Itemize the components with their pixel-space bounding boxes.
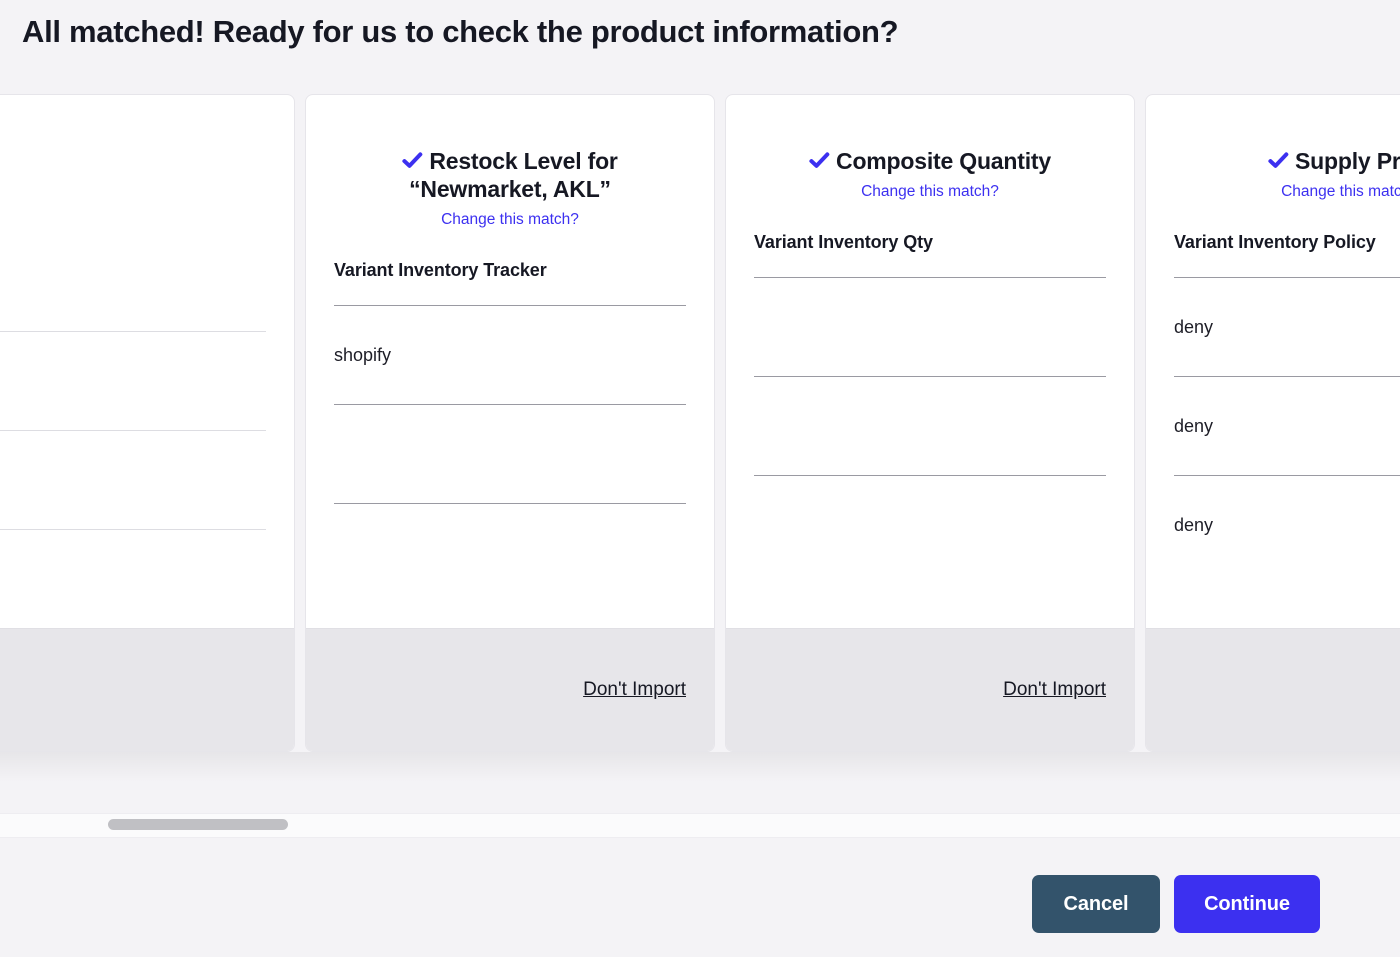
preview-value-row	[754, 277, 1106, 376]
match-card-body: Composite QuantityChange this match?Vari…	[726, 95, 1134, 628]
preview-value-row: shopify	[334, 305, 686, 404]
change-match-link[interactable]: Change this match?	[441, 211, 579, 229]
match-card: Supply PriceChange this match?Variant In…	[1145, 94, 1400, 752]
preview-value-row	[754, 475, 1106, 574]
change-match-link[interactable]: Change this match?	[1281, 183, 1400, 201]
preview-value-list: denydenydeny	[1174, 277, 1400, 574]
page-title: All matched! Ready for us to check the p…	[22, 14, 898, 50]
preview-value-list: shopify	[334, 305, 686, 602]
horizontal-scrollbar-thumb[interactable]	[108, 819, 288, 830]
check-icon	[1268, 150, 1289, 171]
preview-value-row	[334, 503, 686, 602]
match-card-body: Supply PriceChange this match?Variant In…	[1146, 95, 1400, 628]
match-card: Restock Level for “Newmarket, AKL”Change…	[305, 94, 715, 752]
preview-value-row: deny	[1174, 475, 1400, 574]
cancel-button[interactable]: Cancel	[1032, 875, 1160, 933]
preview-value-list	[754, 277, 1106, 574]
preview-value-list	[0, 331, 266, 628]
match-cards-carousel[interactable]: ImportRestock Level for “Newmarket, AKL”…	[0, 94, 1400, 759]
match-card-title-text: Restock Level for “Newmarket, AKL”	[409, 148, 618, 202]
match-card-footer: Don't Import	[1146, 628, 1400, 751]
preview-value-row: deny	[1174, 277, 1400, 376]
continue-button[interactable]: Continue	[1174, 875, 1320, 933]
import-matching-screen: All matched! Ready for us to check the p…	[0, 0, 1400, 957]
preview-value-row: deny	[1174, 376, 1400, 475]
match-card-footer: Don't Import	[726, 628, 1134, 751]
match-card: Composite QuantityChange this match?Vari…	[725, 94, 1135, 752]
header-spacer	[0, 147, 266, 307]
match-card-title: Restock Level for “Newmarket, AKL”	[334, 147, 686, 203]
preview-value-row	[0, 529, 266, 628]
match-card-body	[0, 95, 294, 628]
check-icon	[402, 150, 423, 171]
match-card-partial: Import	[0, 94, 295, 752]
match-card-title-text: Supply Price	[1295, 148, 1400, 174]
match-card-footer: Don't Import	[306, 628, 714, 751]
source-column-name: Variant Inventory Tracker	[334, 260, 686, 281]
action-bar: Cancel Continue	[1032, 875, 1320, 933]
check-icon	[809, 150, 830, 171]
preview-value-row	[754, 376, 1106, 475]
carousel-track: ImportRestock Level for “Newmarket, AKL”…	[0, 94, 1400, 752]
preview-value-row	[0, 331, 266, 430]
match-card-body: Restock Level for “Newmarket, AKL”Change…	[306, 95, 714, 628]
source-column-name: Variant Inventory Policy	[1174, 232, 1400, 253]
match-card-header: Supply PriceChange this match?	[1174, 95, 1400, 201]
source-column-name: Variant Inventory Qty	[754, 232, 1106, 253]
match-card-header: Composite QuantityChange this match?	[754, 95, 1106, 201]
match-card-footer: Import	[0, 628, 294, 751]
horizontal-scrollbar-track[interactable]	[0, 813, 1400, 838]
preview-value-row	[0, 430, 266, 529]
match-card-header: Restock Level for “Newmarket, AKL”Change…	[334, 95, 686, 229]
dont-import-link[interactable]: Don't Import	[583, 679, 686, 701]
match-card-title: Composite Quantity	[754, 147, 1106, 175]
change-match-link[interactable]: Change this match?	[861, 183, 999, 201]
dont-import-link[interactable]: Don't Import	[1003, 679, 1106, 701]
match-card-header	[0, 95, 266, 147]
match-card-title: Supply Price	[1174, 147, 1400, 175]
match-card-title-text: Composite Quantity	[836, 148, 1051, 174]
preview-value-row	[334, 404, 686, 503]
